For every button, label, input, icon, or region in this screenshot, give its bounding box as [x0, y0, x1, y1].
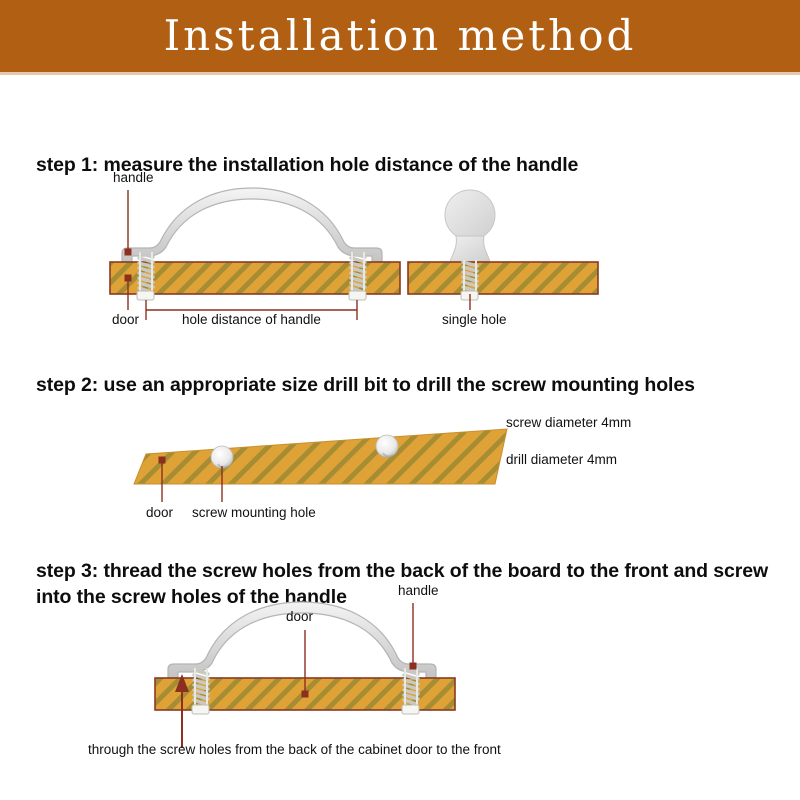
- door-board-perspective-graphic: [134, 429, 507, 484]
- hole-distance-dimension: [146, 300, 357, 320]
- step-2-label-screw-mounting-hole: screw mounting hole: [192, 505, 316, 520]
- step-3-caption: through the screw holes from the back of…: [88, 742, 501, 757]
- step-1-diagram: handle door hole distance of handle: [0, 152, 800, 332]
- header-banner: Installation method: [0, 0, 800, 72]
- screw-left-graphic: [137, 252, 154, 300]
- step-3-section: step 3: thread the screw holes from the …: [0, 558, 800, 768]
- step-1-label-single-hole: single hole: [442, 312, 507, 327]
- screw-right-graphic-step3: [402, 668, 419, 714]
- header-underline-divider: [0, 72, 800, 75]
- step-1-section: step 1: measure the installation hole di…: [0, 152, 800, 332]
- step-2-note-drill-diameter: drill diameter 4mm: [506, 452, 617, 467]
- step-3-label-door: door: [286, 609, 314, 624]
- step-1-label-door: door: [112, 312, 140, 327]
- step-2-section: step 2: use an appropriate size drill bi…: [0, 372, 800, 542]
- door-leader-line: [125, 275, 132, 311]
- screw-right-graphic: [349, 252, 366, 300]
- step-2-label-door: door: [146, 505, 174, 520]
- screw-mounting-hole-right-graphic: [376, 435, 398, 457]
- knob-graphic: [445, 190, 495, 262]
- door-leader-line-step2: [159, 457, 166, 503]
- door-board-graphic-step3: [155, 678, 455, 710]
- step-3-heading: step 3: thread the screw holes from the …: [36, 558, 776, 610]
- page-title: Installation method: [164, 15, 637, 57]
- screw-mounting-hole-left-graphic: [211, 446, 233, 468]
- handle-leader-line-step3: [410, 603, 417, 670]
- door-board-right-graphic: [408, 262, 598, 294]
- step-1-label-hole-distance: hole distance of handle: [182, 312, 321, 327]
- step-1-heading: step 1: measure the installation hole di…: [36, 152, 776, 178]
- handle-arch-graphic: [122, 188, 382, 262]
- screw-left-graphic-step3: [192, 668, 209, 714]
- screw-single-graphic: [461, 260, 478, 300]
- door-board-graphic: [110, 262, 400, 294]
- door-leader-line-step3: [302, 630, 309, 698]
- step-2-note-screw-diameter: screw diameter 4mm: [506, 415, 631, 430]
- thread-direction-arrow: [175, 674, 189, 748]
- handle-arch-graphic-step3: [168, 602, 436, 678]
- handle-leader-line: [125, 190, 132, 256]
- step-2-heading: step 2: use an appropriate size drill bi…: [36, 372, 776, 398]
